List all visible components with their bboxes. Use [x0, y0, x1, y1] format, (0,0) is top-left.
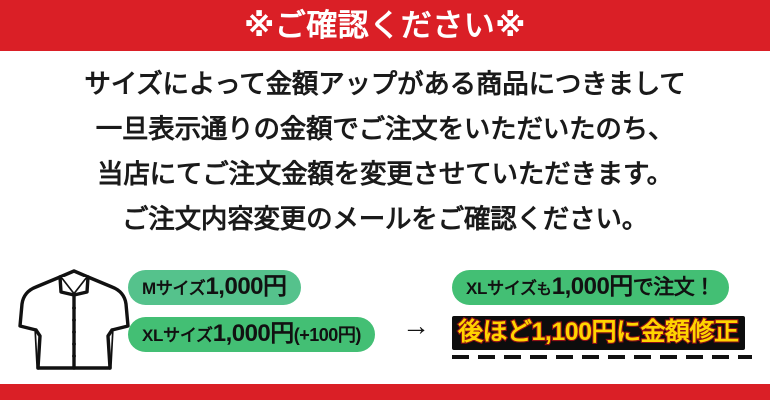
- size-xl-price: 1,000円: [213, 320, 294, 347]
- order-note-size-label: XLサイズ: [466, 279, 537, 298]
- size-m-price: 1,000円: [205, 273, 286, 300]
- price-pill-size-xl: XLサイズ1,000円(+100円): [128, 317, 375, 352]
- order-note-price: 1,000円: [552, 273, 633, 300]
- order-note-tail: で注文！: [633, 276, 715, 299]
- notice-line-2: 一旦表示通りの金額でご注文をいただいたのち、: [0, 107, 770, 152]
- price-pill-size-m: Mサイズ1,000円: [128, 270, 301, 305]
- price-correction-text: 後ほど1,100円に金額修正: [458, 318, 739, 346]
- size-m-label: Mサイズ: [142, 279, 205, 298]
- size-xl-surcharge: (+100円): [294, 325, 361, 345]
- size-xl-label: XLサイズ: [142, 326, 213, 345]
- notice-line-3: 当店にてご注文金額を変更させていただきます。: [0, 152, 770, 197]
- notice-line-1: サイズによって金額アップがある商品につきまして: [0, 62, 770, 107]
- order-note-particle: も: [537, 281, 552, 298]
- shirt-icon: [16, 268, 132, 374]
- footer-bar: [0, 384, 770, 400]
- notice-line-4: ご注文内容変更のメールをご確認ください。: [0, 197, 770, 242]
- size-price-notice-banner: ※ご確認ください※ サイズによって金額アップがある商品につきまして 一旦表示通り…: [0, 0, 770, 400]
- price-after-group: XLサイズも1,000円で注文！ 後ほど1,100円に金額修正: [452, 270, 758, 359]
- notice-text-block: サイズによって金額アップがある商品につきまして 一旦表示通りの金額でご注文をいた…: [0, 62, 770, 242]
- page-title: ※ご確認ください※: [244, 10, 526, 41]
- price-pill-order-note: XLサイズも1,000円で注文！: [452, 270, 729, 305]
- header-bar: ※ご確認ください※: [0, 0, 770, 51]
- price-example-section: Mサイズ1,000円 XLサイズ1,000円(+100円) → XLサイズも1,…: [0, 262, 770, 382]
- arrow-right-icon: →: [402, 312, 430, 340]
- price-correction-highlight: 後ほど1,100円に金額修正: [452, 316, 745, 350]
- price-before-group: Mサイズ1,000円 XLサイズ1,000円(+100円): [128, 270, 390, 352]
- dashed-underline: [452, 355, 752, 359]
